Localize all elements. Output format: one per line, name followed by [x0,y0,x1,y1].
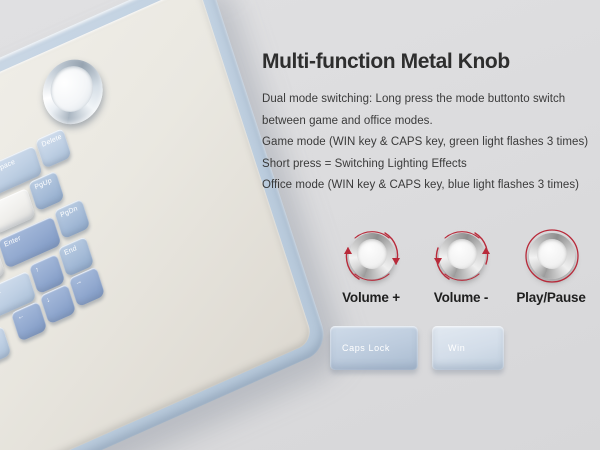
keycap-caps-lock[interactable]: Caps Lock [330,326,418,370]
knob-press-icon [515,228,587,288]
description-line: Office mode (WIN key & CAPS key, blue li… [262,175,594,197]
description-line: Game mode (WIN key & CAPS key, green lig… [262,132,594,154]
keycap-label: Win [448,343,465,353]
page-title: Multi-function Metal Knob [262,50,594,73]
description-block: Dual mode switching: Long press the mode… [262,89,594,197]
keycap-label: Caps Lock [342,343,390,353]
description-line: Short press = Switching Lighting Effects [262,154,594,176]
knob-rotate-ccw-icon [425,228,497,288]
keyboard-key: Fn [0,326,12,367]
keycap-illustration-row: Caps LockWin [330,326,504,370]
knob-function-press[interactable]: Play/Pause [510,228,592,305]
knob-function-rotate-clockwise[interactable]: Volume + [330,228,412,305]
keyboard-key: PgDn [54,199,91,240]
knob-label: Play/Pause [516,290,585,305]
content-column: Multi-function Metal Knob Dual mode swit… [262,50,594,197]
knob-function-rotate-counter-clockwise[interactable]: Volume - [420,228,502,305]
keycap-win[interactable]: Win [432,326,504,370]
description-line: Dual mode switching: Long press the mode… [262,89,594,132]
knob-rotate-cw-icon [335,228,407,288]
knob-label: Volume + [342,290,400,305]
knob-label: Volume - [434,290,488,305]
promo-stage: F9F10F11F12BackspaceDeleteP[]\PgUpL;'Ent… [0,0,600,450]
knob-function-row: Volume +Volume -Play/Pause [330,228,592,305]
